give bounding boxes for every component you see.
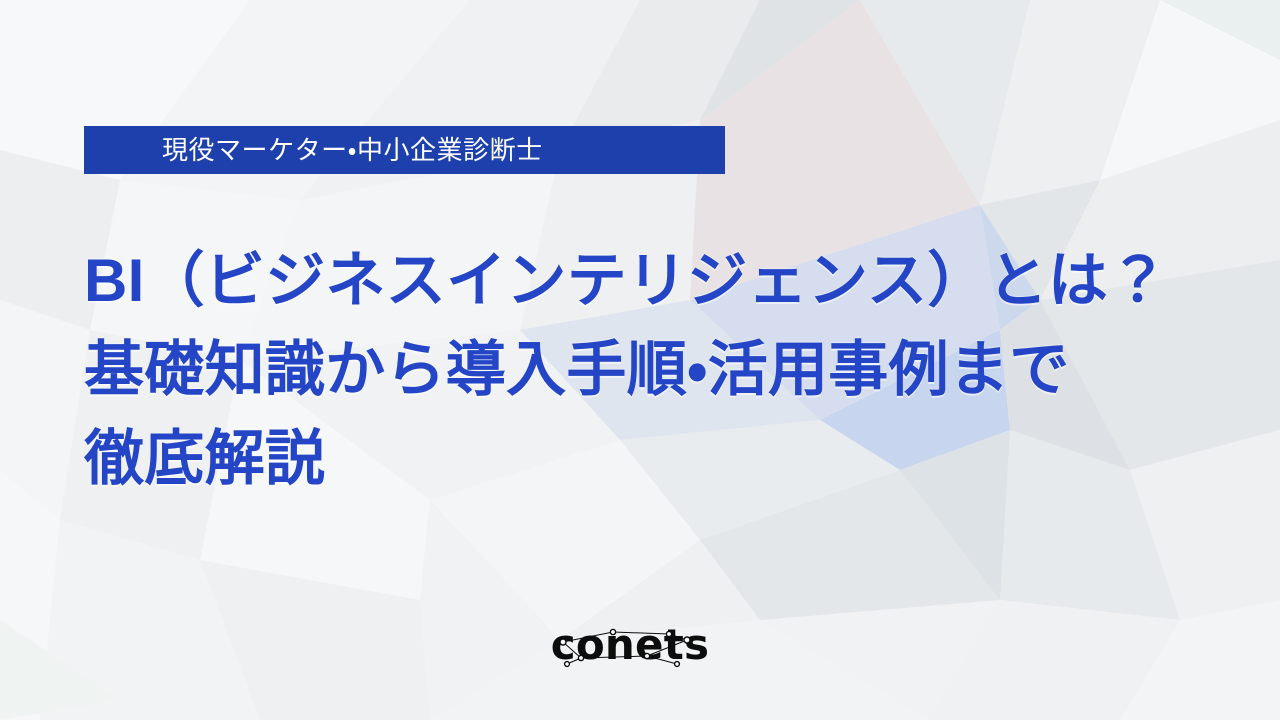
page-title: BI（ビジネスインテリジェンス）とは？ 基礎知識から導入手順・活用事例まで 徹底… <box>84 236 1254 503</box>
page-title-line-2: 基礎知識から導入手順・活用事例まで <box>84 325 1254 414</box>
conets-logo-wordmark: conets <box>551 620 709 670</box>
credential-badge-label: 現役マーケター・中小企業診断士 <box>162 137 543 163</box>
thumbnail-canvas: 現役マーケター・中小企業診断士 BI（ビジネスインテリジェンス）とは？ 基礎知識… <box>0 0 1280 720</box>
page-title-line-1: BI（ビジネスインテリジェンス）とは？ <box>84 236 1254 325</box>
credential-badge: 現役マーケター・中小企業診断士 <box>84 126 725 174</box>
conets-logo: conets <box>551 620 709 670</box>
page-title-line-3: 徹底解説 <box>84 414 1254 503</box>
